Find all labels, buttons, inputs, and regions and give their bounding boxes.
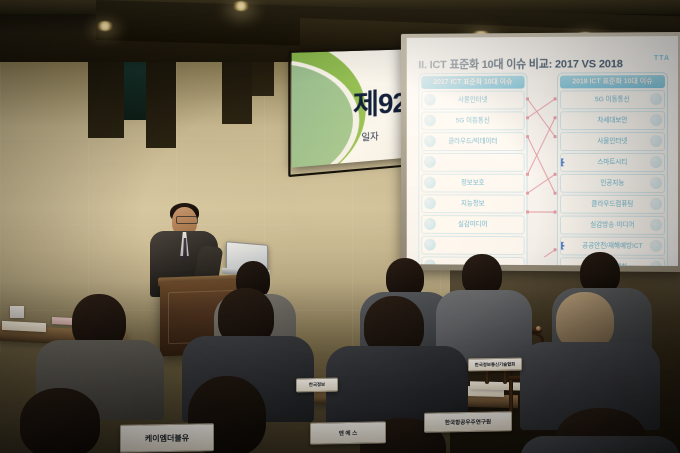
slide-title: II. ICT 표준화 10대 이슈 비교: 2017 VS 2018 xyxy=(418,55,622,72)
slide-issue-label: 정보보호 xyxy=(422,175,523,192)
iot-icon xyxy=(650,135,662,147)
audience-head xyxy=(20,388,100,453)
security-icon xyxy=(650,114,662,126)
nameplate-kari: 한국항공우주연구원 xyxy=(424,411,512,433)
generic-icon xyxy=(424,156,436,168)
slide-issue-label: 5G 이동통신 xyxy=(422,112,523,129)
ceiling-downlight-icon xyxy=(96,21,114,31)
projection-screen: II. ICT 표준화 10대 이슈 비교: 2017 VS 2018 TTA … xyxy=(407,36,678,268)
iot-icon xyxy=(424,94,436,106)
slide-issue-row: 5G 이동통신 xyxy=(421,111,524,130)
slide-issue-label: 5G 이동통신 xyxy=(561,91,664,109)
slide-issue-row: 인공지능 xyxy=(560,174,665,194)
slide-issue-row: 실감미디어 xyxy=(421,215,524,235)
media-icon xyxy=(650,219,662,231)
nameplate-kisa: 한국정보 xyxy=(296,378,338,393)
audience-body xyxy=(520,436,680,453)
ai-icon xyxy=(650,177,662,189)
cloud-icon xyxy=(650,198,662,210)
slide-issue-row xyxy=(421,153,524,172)
banner-subtitle: 일자 xyxy=(361,129,378,144)
chair-knob xyxy=(536,326,541,331)
column-header-2018: 2018 ICT 표준화 10대 이슈 xyxy=(560,75,665,88)
cup xyxy=(10,306,24,318)
slide-issue-row: 실감방송·미디어 xyxy=(560,215,665,235)
slide-issue-row: 스마트시티NEW xyxy=(560,153,665,172)
seminar-room-photo: 제92 일자 II. ICT 표준화 10대 이슈 비교: 2017 VS 20… xyxy=(0,0,680,453)
slide-column-2017: 2017 ICT 표준화 10대 이슈 사물인터넷5G 이동통신클라우드/빅데이… xyxy=(418,73,527,266)
slide-issue-label xyxy=(422,237,523,238)
slide-issue-row: 공공안전/재해예방ICTNEW xyxy=(560,236,665,256)
ceiling-downlight-icon xyxy=(232,1,250,11)
safety-icon xyxy=(650,240,662,252)
slide-issue-label: 사물인터넷 xyxy=(422,92,523,110)
slide-column-2018: 2018 ICT 표준화 10대 이슈 5G 이동통신차세대보안사물인터넷스마트… xyxy=(557,72,668,266)
column-header-2017: 2017 ICT 표준화 10대 이슈 xyxy=(421,76,524,89)
tta-logo-icon: TTA xyxy=(654,55,670,62)
slide-issue-label: 스마트시티 xyxy=(561,154,664,171)
cloud-icon xyxy=(424,135,436,147)
slide-issue-row: 클라우드/빅데이터 xyxy=(421,132,524,151)
ai-icon xyxy=(424,197,436,209)
slide-issue-label: 지능정보 xyxy=(422,195,523,213)
media-icon xyxy=(424,218,436,230)
projected-slide: II. ICT 표준화 10대 이슈 비교: 2017 VS 2018 TTA … xyxy=(407,36,678,266)
banner-title: 제92 xyxy=(353,80,407,123)
slide-issue-label: 사물인터넷 xyxy=(561,133,664,150)
5g-icon xyxy=(424,115,436,127)
slide-issue-label: 실감방송·미디어 xyxy=(561,216,664,234)
slide-issue-label: 공공안전/재해예방ICT xyxy=(561,237,664,255)
nameplate-tta-org: 한국정보통신기술협회 xyxy=(468,358,522,372)
nameplate-nes: 엔 에 스 xyxy=(310,421,386,444)
nameplate-kmw: 케이엠더블유 xyxy=(120,423,214,453)
slide-issue-label: 클라우드/빅데이터 xyxy=(422,133,523,150)
slide-issue-row: 클라우드컴퓨팅 xyxy=(560,195,665,215)
slide-issue-row: 차세대보안 xyxy=(560,111,665,131)
slide-body: 2017 ICT 표준화 10대 이슈 사물인터넷5G 이동통신클라우드/빅데이… xyxy=(416,72,668,258)
slide-issue-label: 인공지능 xyxy=(561,175,664,193)
slide-issue-row: 사물인터넷 xyxy=(560,132,665,151)
slide-issue-row: 사물인터넷 xyxy=(421,91,524,110)
slide-issue-row: 정보보호 xyxy=(421,174,524,193)
slide-issue-label: 실감미디어 xyxy=(422,216,523,234)
security-icon xyxy=(424,177,436,189)
generic-icon xyxy=(424,239,436,251)
5g-icon xyxy=(650,93,662,105)
slide-issue-row: 5G 이동통신 xyxy=(560,90,665,110)
city-icon xyxy=(650,156,662,168)
speaker-glasses-icon xyxy=(176,216,198,224)
slide-issue-label: 클라우드컴퓨팅 xyxy=(561,196,664,214)
slide-issue-row xyxy=(421,236,524,256)
slide-issue-row: 지능정보 xyxy=(421,194,524,213)
slide-issue-label: 차세대보안 xyxy=(561,112,664,130)
